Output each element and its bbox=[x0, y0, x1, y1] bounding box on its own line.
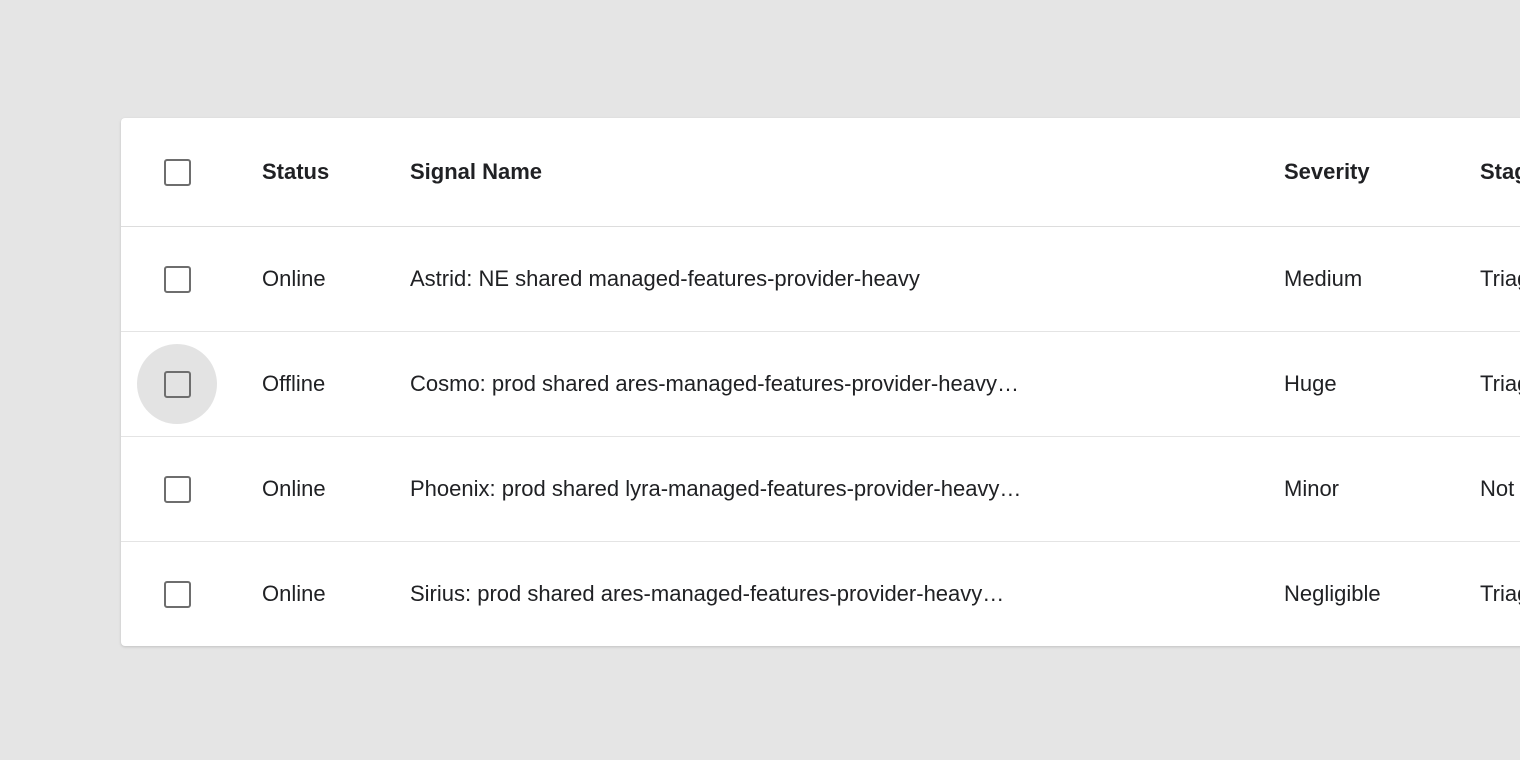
table-row[interactable]: Online Phoenix: prod shared lyra-managed… bbox=[121, 437, 1520, 542]
column-header-status-label: Status bbox=[262, 159, 405, 185]
stage-value: Triage bbox=[1480, 266, 1520, 292]
row-stage-cell: Triage bbox=[1475, 542, 1520, 647]
row-severity-cell: Huge bbox=[1277, 332, 1475, 437]
screen-root: Status Signal Name Severity Stage bbox=[0, 0, 1520, 760]
stage-value: Triage bbox=[1480, 371, 1520, 397]
status-value: Online bbox=[262, 476, 405, 502]
status-value: Offline bbox=[262, 371, 405, 397]
table-row[interactable]: Online Sirius: prod shared ares-managed-… bbox=[121, 542, 1520, 647]
checkbox-icon bbox=[164, 159, 191, 186]
row-stage-cell: Triage bbox=[1475, 332, 1520, 437]
signals-table-card: Status Signal Name Severity Stage bbox=[121, 118, 1520, 646]
column-header-severity[interactable]: Severity bbox=[1277, 118, 1475, 227]
select-all-checkbox[interactable] bbox=[137, 132, 217, 212]
checkbox-icon bbox=[164, 476, 191, 503]
signal-name-value: Sirius: prod shared ares-managed-feature… bbox=[410, 581, 1277, 607]
stage-value: Triage bbox=[1480, 581, 1520, 607]
column-header-stage-label: Stage bbox=[1480, 159, 1520, 185]
column-header-stage[interactable]: Stage bbox=[1475, 118, 1520, 227]
row-checkbox[interactable] bbox=[137, 554, 217, 634]
stage-value: Not started bbox=[1480, 476, 1520, 502]
row-stage-cell: Not started bbox=[1475, 437, 1520, 542]
checkbox-icon bbox=[164, 581, 191, 608]
row-checkbox[interactable] bbox=[137, 239, 217, 319]
row-signal-name-cell: Cosmo: prod shared ares-managed-features… bbox=[405, 332, 1277, 437]
row-status-cell: Online bbox=[256, 227, 405, 332]
row-select-cell bbox=[121, 332, 256, 437]
signals-table: Status Signal Name Severity Stage bbox=[121, 118, 1520, 646]
table-row[interactable]: Online Astrid: NE shared managed-feature… bbox=[121, 227, 1520, 332]
row-status-cell: Online bbox=[256, 542, 405, 647]
signal-name-value: Cosmo: prod shared ares-managed-features… bbox=[410, 371, 1277, 397]
row-signal-name-cell: Phoenix: prod shared lyra-managed-featur… bbox=[405, 437, 1277, 542]
row-status-cell: Online bbox=[256, 437, 405, 542]
checkbox-icon bbox=[164, 266, 191, 293]
row-signal-name-cell: Astrid: NE shared managed-features-provi… bbox=[405, 227, 1277, 332]
severity-value: Minor bbox=[1284, 476, 1475, 502]
row-severity-cell: Negligible bbox=[1277, 542, 1475, 647]
column-header-signal-name-label: Signal Name bbox=[410, 159, 1277, 185]
table-row[interactable]: Offline Cosmo: prod shared ares-managed-… bbox=[121, 332, 1520, 437]
row-select-cell bbox=[121, 437, 256, 542]
signal-name-value: Phoenix: prod shared lyra-managed-featur… bbox=[410, 476, 1277, 502]
column-header-severity-label: Severity bbox=[1284, 159, 1475, 185]
status-value: Online bbox=[262, 581, 405, 607]
row-signal-name-cell: Sirius: prod shared ares-managed-feature… bbox=[405, 542, 1277, 647]
row-status-cell: Offline bbox=[256, 332, 405, 437]
column-header-status[interactable]: Status bbox=[256, 118, 405, 227]
table-body: Online Astrid: NE shared managed-feature… bbox=[121, 227, 1520, 647]
row-checkbox[interactable] bbox=[137, 344, 217, 424]
table-header: Status Signal Name Severity Stage bbox=[121, 118, 1520, 227]
severity-value: Medium bbox=[1284, 266, 1475, 292]
status-value: Online bbox=[262, 266, 405, 292]
severity-value: Huge bbox=[1284, 371, 1475, 397]
row-severity-cell: Minor bbox=[1277, 437, 1475, 542]
column-header-signal-name[interactable]: Signal Name bbox=[405, 118, 1277, 227]
severity-value: Negligible bbox=[1284, 581, 1475, 607]
row-checkbox[interactable] bbox=[137, 449, 217, 529]
row-stage-cell: Triage bbox=[1475, 227, 1520, 332]
row-severity-cell: Medium bbox=[1277, 227, 1475, 332]
checkbox-icon bbox=[164, 371, 191, 398]
row-select-cell bbox=[121, 227, 256, 332]
signal-name-value: Astrid: NE shared managed-features-provi… bbox=[410, 266, 1277, 292]
select-all-header bbox=[121, 118, 256, 227]
table-header-row: Status Signal Name Severity Stage bbox=[121, 118, 1520, 227]
row-select-cell bbox=[121, 542, 256, 647]
